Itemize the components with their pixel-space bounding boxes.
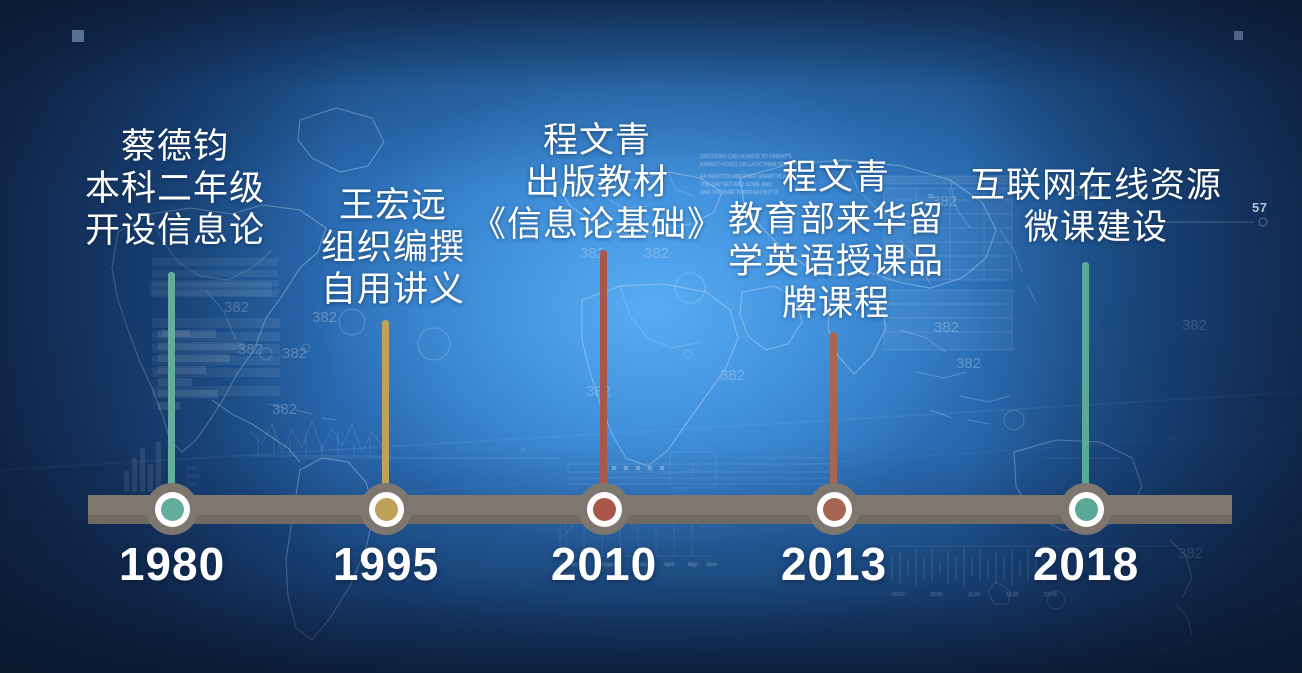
hud-square-right-icon <box>1234 31 1243 40</box>
svg-text:2859: 2859 <box>186 466 197 472</box>
event-year-2018: 2018 <box>1006 537 1166 591</box>
svg-text:09:00: 09:00 <box>892 592 905 598</box>
svg-text:13:00: 13:00 <box>1044 592 1057 598</box>
svg-text:382: 382 <box>956 355 981 372</box>
svg-text:382: 382 <box>282 345 307 362</box>
slide-canvas: .cl { fill:none; stroke:rgba(205,226,246… <box>0 0 1302 673</box>
event-node-2018[interactable] <box>1060 483 1112 535</box>
decor-data-panel-left: 2859 7#302 2549 <box>124 258 280 492</box>
event-node-dot-2018 <box>1075 498 1098 521</box>
svg-text:10:00: 10:00 <box>930 592 943 598</box>
decor-hud-strip: 20 <box>300 448 1120 488</box>
event-node-dot-1995 <box>375 498 398 521</box>
event-node-dot-2010 <box>593 498 616 521</box>
svg-text:382: 382 <box>586 383 611 400</box>
event-node-ring-2013 <box>817 492 852 527</box>
svg-text:12:00: 12:00 <box>1006 592 1019 598</box>
event-caption-2013: 程文青 教育部来华留 学英语授课品 牌课程 <box>706 157 966 325</box>
event-year-1980: 1980 <box>92 537 252 591</box>
hud-square-left-icon <box>72 30 84 42</box>
decor-light-streaks <box>0 392 1302 673</box>
event-node-dot-2013 <box>823 498 846 521</box>
event-node-2013[interactable] <box>808 483 860 535</box>
decor-sparkline-mid <box>250 420 392 456</box>
svg-text:June: June <box>706 562 717 568</box>
svg-text:382: 382 <box>272 401 297 418</box>
event-node-ring-2010 <box>587 492 622 527</box>
svg-text:May: May <box>688 562 698 568</box>
event-caption-2010: 程文青 出版教材 《信息论基础》 <box>452 120 742 246</box>
svg-text:382: 382 <box>644 245 669 262</box>
event-node-1995[interactable] <box>360 483 412 535</box>
event-year-2010: 2010 <box>524 537 684 591</box>
svg-text:7#302: 7#302 <box>186 474 200 480</box>
svg-text:382: 382 <box>1178 545 1203 562</box>
event-node-ring-1980 <box>155 492 190 527</box>
svg-text:20: 20 <box>520 448 526 454</box>
svg-text:382: 382 <box>224 299 249 316</box>
event-node-1980[interactable] <box>146 483 198 535</box>
event-node-ring-1995 <box>369 492 404 527</box>
svg-text:382: 382 <box>238 341 263 358</box>
event-node-ring-2018 <box>1069 492 1104 527</box>
svg-text:382: 382 <box>1182 317 1207 334</box>
event-caption-2018: 互联网在线资源 微课建设 <box>946 165 1246 249</box>
svg-text:2549: 2549 <box>186 482 197 488</box>
event-year-2013: 2013 <box>754 537 914 591</box>
event-node-dot-1980 <box>161 498 184 521</box>
svg-text:382: 382 <box>720 367 745 384</box>
event-stem-1995 <box>382 320 389 499</box>
svg-text:11:00: 11:00 <box>968 592 980 598</box>
event-stem-2018 <box>1082 262 1089 499</box>
event-year-1995: 1995 <box>306 537 466 591</box>
event-stem-2010 <box>600 250 607 499</box>
event-stem-1980 <box>168 272 175 499</box>
hud-marker-label: 57 <box>1252 200 1267 215</box>
event-stem-2013 <box>830 332 837 499</box>
event-node-2010[interactable] <box>578 483 630 535</box>
svg-text:382: 382 <box>312 309 337 326</box>
